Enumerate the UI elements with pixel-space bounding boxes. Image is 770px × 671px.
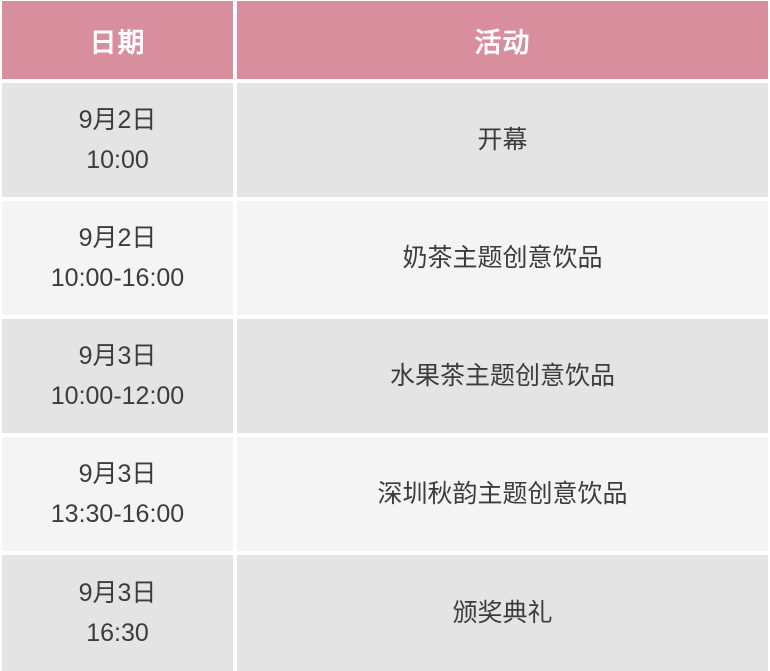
time-text: 16:30 [86, 616, 149, 651]
time-text: 10:00-16:00 [51, 261, 184, 296]
date-text: 9月3日 [79, 576, 157, 611]
activity-text: 开幕 [477, 123, 527, 158]
column-header-activity-label: 活动 [475, 21, 531, 60]
time-text: 13:30-16:00 [51, 497, 184, 532]
time-text: 10:00 [86, 143, 149, 178]
cell-date: 9月3日 16:30 [2, 555, 233, 671]
date-text: 9月2日 [79, 221, 157, 256]
column-header-date-label: 日期 [90, 21, 146, 60]
cell-activity: 深圳秋韵主题创意饮品 [237, 437, 768, 551]
cell-activity: 开幕 [237, 83, 768, 197]
time-text: 10:00-12:00 [51, 379, 184, 414]
cell-activity: 奶茶主题创意饮品 [237, 201, 768, 315]
table-row: 9月3日 13:30-16:00 深圳秋韵主题创意饮品 [2, 437, 768, 551]
cell-date: 9月3日 13:30-16:00 [2, 437, 233, 551]
activity-text: 奶茶主题创意饮品 [402, 241, 602, 276]
date-text: 9月3日 [79, 457, 157, 492]
table-row: 9月3日 16:30 颁奖典礼 [2, 555, 768, 671]
activity-text: 深圳秋韵主题创意饮品 [377, 477, 627, 512]
date-text: 9月2日 [79, 103, 157, 138]
activity-text: 水果茶主题创意饮品 [390, 359, 615, 394]
date-text: 9月3日 [79, 339, 157, 374]
cell-activity: 颁奖典礼 [237, 555, 768, 671]
cell-date: 9月2日 10:00 [2, 83, 233, 197]
column-header-date: 日期 [2, 1, 233, 79]
cell-date: 9月3日 10:00-12:00 [2, 319, 233, 433]
table-row: 9月3日 10:00-12:00 水果茶主题创意饮品 [2, 319, 768, 433]
cell-date: 9月2日 10:00-16:00 [2, 201, 233, 315]
table-row: 9月2日 10:00 开幕 [2, 83, 768, 197]
activity-text: 颁奖典礼 [452, 596, 552, 631]
cell-activity: 水果茶主题创意饮品 [237, 319, 768, 433]
table-row: 9月2日 10:00-16:00 奶茶主题创意饮品 [2, 201, 768, 315]
table-header-row: 日期 活动 [2, 1, 768, 79]
column-header-activity: 活动 [237, 1, 768, 79]
schedule-table: 日期 活动 9月2日 10:00 开幕 9月2日 10:00-16:00 奶茶主… [0, 0, 770, 664]
